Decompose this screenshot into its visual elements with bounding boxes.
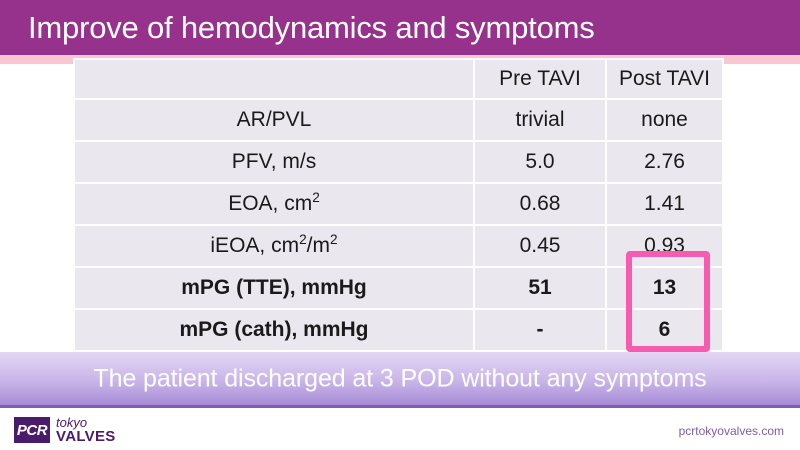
row-label-ieoa-unit: 2/m2 [299, 234, 338, 257]
row-pre-ar-pvl: trivial [474, 99, 606, 141]
row-post-mpg-tte: 13 [606, 267, 723, 309]
hemodynamics-table: Pre TAVI Post TAVI AR/PVL trivial none P… [73, 58, 724, 352]
site-url-label: pcrtokyovalves.com [679, 424, 784, 438]
column-header-label [74, 59, 474, 99]
slide-canvas: Improve of hemodynamics and symptoms Pre… [0, 0, 800, 450]
row-label-ar-pvl: AR/PVL [74, 99, 474, 141]
row-post-pfv: 2.76 [606, 141, 723, 183]
logo-wordmark: tokyo VALVES [56, 416, 116, 444]
row-pre-pfv: 5.0 [474, 141, 606, 183]
table-row: mPG (cath), mmHg - 6 [74, 309, 723, 351]
table-row: EOA, cm2 0.68 1.41 [74, 183, 723, 225]
table-header-row: Pre TAVI Post TAVI [74, 59, 723, 99]
row-post-eoa: 1.41 [606, 183, 723, 225]
column-header-pre-tavi: Pre TAVI [474, 59, 606, 99]
row-pre-mpg-tte: 51 [474, 267, 606, 309]
slide-footer: PCR tokyo VALVES pcrtokyovalves.com [0, 411, 800, 450]
slide-title-bar: Improve of hemodynamics and symptoms [0, 0, 800, 55]
page-title: Improve of hemodynamics and symptoms [28, 10, 595, 46]
column-header-post-tavi: Post TAVI [606, 59, 723, 99]
table-row: mPG (TTE), mmHg 51 13 [74, 267, 723, 309]
row-label-ieoa-text: iEOA, cm [210, 234, 299, 257]
table-row: PFV, m/s 5.0 2.76 [74, 141, 723, 183]
row-label-mpg-cath: mPG (cath), mmHg [74, 309, 474, 351]
conclusion-banner-text: The patient discharged at 3 POD without … [93, 364, 706, 393]
row-label-ieoa: iEOA, cm2/m2 [74, 225, 474, 267]
row-post-mpg-cath: 6 [606, 309, 723, 351]
hemodynamics-table-wrapper: Pre TAVI Post TAVI AR/PVL trivial none P… [73, 58, 722, 352]
row-label-mpg-tte: mPG (TTE), mmHg [74, 267, 474, 309]
row-pre-ieoa: 0.45 [474, 225, 606, 267]
row-post-ar-pvl: none [606, 99, 723, 141]
table-row: iEOA, cm2/m2 0.45 0.93 [74, 225, 723, 267]
logo-valves-text: VALVES [56, 429, 116, 444]
conclusion-banner: The patient discharged at 3 POD without … [0, 352, 800, 408]
row-pre-eoa: 0.68 [474, 183, 606, 225]
row-label-eoa-text: EOA, cm [228, 192, 312, 215]
pcr-logo-mark: PCR [14, 417, 50, 443]
row-label-pfv: PFV, m/s [74, 141, 474, 183]
table-row: AR/PVL trivial none [74, 99, 723, 141]
pcr-tokyo-valves-logo: PCR tokyo VALVES [14, 416, 116, 444]
row-label-eoa: EOA, cm2 [74, 183, 474, 225]
row-label-eoa-unit: 2 [312, 190, 320, 205]
row-pre-mpg-cath: - [474, 309, 606, 351]
row-post-ieoa: 0.93 [606, 225, 723, 267]
